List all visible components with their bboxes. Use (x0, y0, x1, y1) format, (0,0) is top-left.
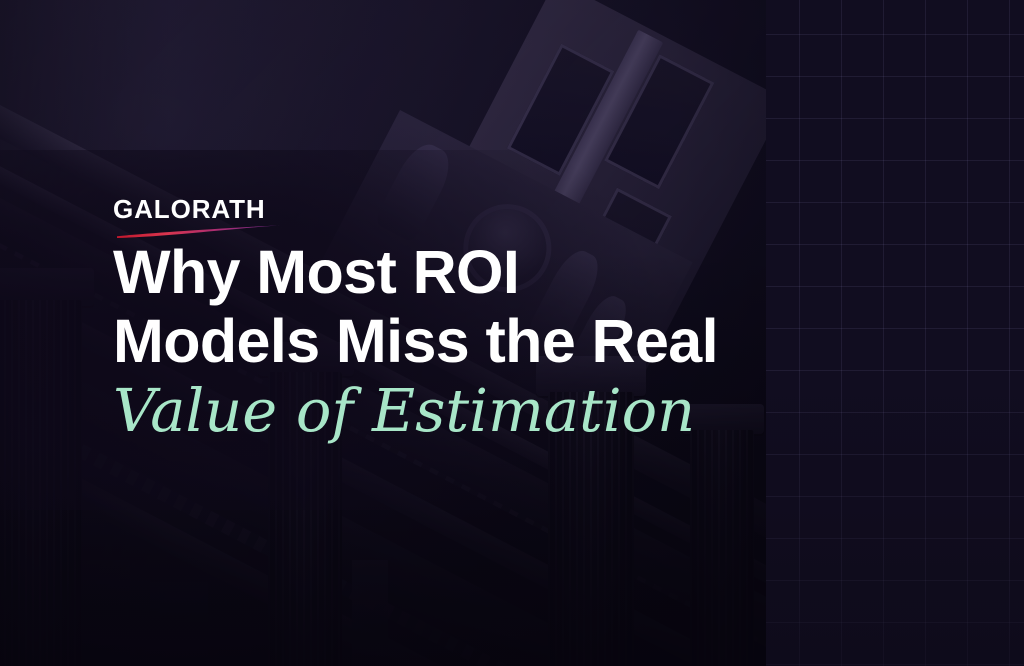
title-line-3-accent: Value of Estimation (113, 376, 733, 445)
grid-panel (766, 0, 1024, 666)
logo-wordmark: GALORATH (113, 196, 303, 222)
hero-content: GALORATH Why Most ROI Models Miss the Re… (113, 196, 733, 445)
title-line-2: Models Miss the Real (113, 307, 733, 376)
page-title: Why Most ROI Models Miss the Real Value … (113, 238, 733, 445)
title-line-1: Why Most ROI (113, 238, 733, 307)
galorath-logo[interactable]: GALORATH (113, 196, 303, 238)
brand-swoosh-icon (115, 224, 283, 240)
hero-banner: GALORATH Why Most ROI Models Miss the Re… (0, 0, 1024, 666)
